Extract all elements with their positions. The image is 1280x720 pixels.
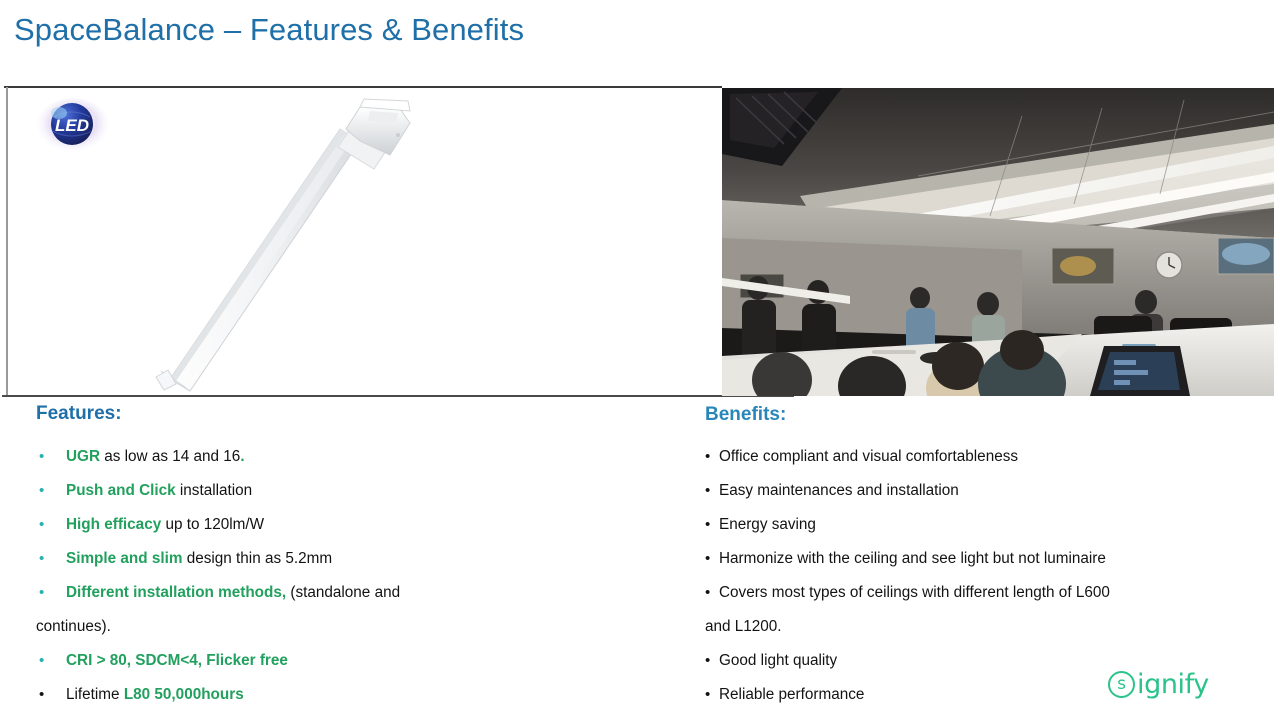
feature-text-continued: continues). xyxy=(36,610,676,644)
list-item: • CRI > 80, SDCM<4, Flicker free xyxy=(36,644,676,678)
feature-highlight: Different installation methods, xyxy=(66,584,286,601)
feature-highlight: UGR xyxy=(66,448,100,465)
feature-text: installation xyxy=(176,482,253,499)
features-heading: Features: xyxy=(36,403,122,425)
features-column: Features: • UGR as low as 14 and 16. • P… xyxy=(0,400,700,720)
feature-text: as low as 14 and 16 xyxy=(100,448,240,465)
bullet-icon: • xyxy=(705,542,710,576)
feature-text: Lifetime xyxy=(66,686,124,703)
bullet-icon: • xyxy=(705,474,710,508)
led-globe-icon: LED xyxy=(36,97,110,155)
signify-s-mark-icon: s xyxy=(1108,671,1135,698)
installation-photo xyxy=(722,88,1274,396)
bullet-icon: • xyxy=(705,508,710,542)
list-item: • Different installation methods, (stand… xyxy=(36,576,676,644)
feature-tail: . xyxy=(240,448,244,465)
feature-text: up to 120lm/W xyxy=(161,516,264,533)
list-item: • High efficacy up to 120lm/W xyxy=(36,508,676,542)
list-item: • Push and Click installation xyxy=(36,474,676,508)
feature-text: (standalone and xyxy=(286,584,400,601)
middle-divider xyxy=(2,395,794,397)
benefit-text-continued: and L1200. xyxy=(705,610,1265,644)
signify-wordmark: ignify xyxy=(1137,671,1209,698)
feature-tail: L80 50,000hours xyxy=(124,686,244,703)
benefit-text: Harmonize with the ceiling and see light… xyxy=(719,550,1106,567)
benefit-text: Covers most types of ceilings with diffe… xyxy=(719,584,1110,601)
bullet-icon: • xyxy=(705,644,710,678)
feature-highlight: High efficacy xyxy=(66,516,161,533)
features-list: • UGR as low as 14 and 16. • Push and Cl… xyxy=(36,440,676,712)
feature-highlight: Simple and slim xyxy=(66,550,182,567)
benefit-text: Easy maintenances and installation xyxy=(719,482,959,499)
bullet-icon: • xyxy=(705,678,710,712)
list-item: • Easy maintenances and installation xyxy=(705,474,1265,508)
list-item: • Covers most types of ceilings with dif… xyxy=(705,576,1265,644)
feature-highlight: Push and Click xyxy=(66,482,176,499)
benefit-text: Energy saving xyxy=(719,516,816,533)
bullet-icon: • xyxy=(39,644,44,678)
benefit-text: Office compliant and visual comfortablen… xyxy=(719,448,1018,465)
benefit-text: Reliable performance xyxy=(719,686,864,703)
bullet-icon: • xyxy=(39,542,44,576)
list-item: • Simple and slim design thin as 5.2mm xyxy=(36,542,676,576)
page-title: SpaceBalance – Features & Benefits xyxy=(14,12,524,48)
benefits-heading: Benefits: xyxy=(705,404,786,426)
led-badge-label: LED xyxy=(55,116,89,135)
bullet-icon: • xyxy=(39,440,44,474)
bullet-icon: • xyxy=(39,508,44,542)
bullet-icon: • xyxy=(39,678,44,712)
top-divider xyxy=(4,86,722,88)
feature-highlight: CRI > 80, SDCM<4, Flicker free xyxy=(66,652,288,669)
list-item: • Energy saving xyxy=(705,508,1265,542)
feature-text: design thin as 5.2mm xyxy=(182,550,332,567)
product-image: LED xyxy=(8,89,720,395)
luminaire-illustration xyxy=(8,89,720,395)
bullet-icon: • xyxy=(39,474,44,508)
list-item: • UGR as low as 14 and 16. xyxy=(36,440,676,474)
benefit-text: Good light quality xyxy=(719,652,837,669)
list-item: • Harmonize with the ceiling and see lig… xyxy=(705,542,1265,576)
list-item: • Office compliant and visual comfortabl… xyxy=(705,440,1265,474)
bullet-icon: • xyxy=(705,440,710,474)
list-item: • Lifetime L80 50,000hours xyxy=(36,678,676,712)
bullet-icon: • xyxy=(705,576,710,610)
led-badge: LED xyxy=(36,97,110,155)
meeting-room-scene xyxy=(722,88,1274,396)
signify-logo: s ignify xyxy=(1108,667,1248,701)
bullet-icon: • xyxy=(39,576,44,610)
